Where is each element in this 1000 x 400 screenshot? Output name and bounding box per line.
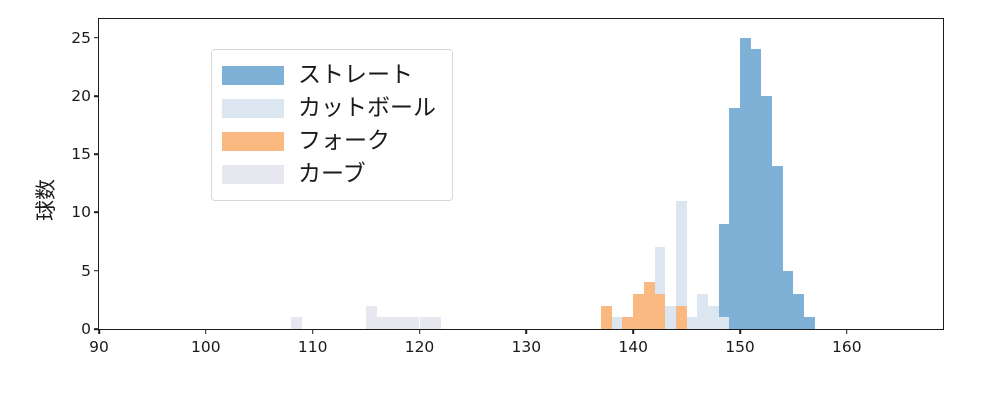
histogram-bar bbox=[793, 294, 804, 329]
legend-item-label: カットボール bbox=[298, 97, 436, 120]
x-axis-tick-label: 140 bbox=[618, 338, 648, 356]
x-axis-tick-mark bbox=[205, 329, 207, 334]
x-axis-tick-label: 150 bbox=[725, 338, 755, 356]
histogram-bar bbox=[420, 317, 431, 329]
legend-item[interactable]: カーブ bbox=[222, 158, 436, 191]
legend-color-swatch bbox=[222, 132, 284, 151]
y-axis-tick-mark bbox=[94, 153, 99, 155]
histogram-bar bbox=[719, 317, 730, 329]
y-axis-tick-mark bbox=[94, 37, 99, 39]
x-axis-tick-mark bbox=[632, 329, 634, 334]
y-axis-tick-label: 15 bbox=[71, 145, 91, 163]
legend-item[interactable]: フォーク bbox=[222, 125, 436, 158]
legend-color-swatch bbox=[222, 66, 284, 85]
y-axis-tick-mark bbox=[94, 270, 99, 272]
y-axis-tick-mark bbox=[94, 212, 99, 214]
histogram-bar bbox=[783, 271, 794, 329]
x-axis-tick-mark bbox=[312, 329, 314, 334]
histogram-bar bbox=[387, 317, 398, 329]
histogram-bar bbox=[430, 317, 441, 329]
legend-item-label: カーブ bbox=[298, 163, 366, 186]
legend-color-swatch bbox=[222, 165, 284, 184]
y-axis-tick-label: 25 bbox=[71, 29, 91, 47]
y-axis-tick-label: 0 bbox=[81, 320, 91, 338]
histogram-bar bbox=[804, 317, 815, 329]
legend-item[interactable]: カットボール bbox=[222, 92, 436, 125]
plot-area: 0510152025 90100110120130140150160 ストレート… bbox=[98, 18, 944, 330]
histogram-bar bbox=[676, 306, 687, 329]
histogram-bar bbox=[740, 38, 751, 329]
histogram-bar bbox=[622, 317, 633, 329]
histogram-bar bbox=[729, 108, 740, 329]
histogram-bar bbox=[697, 294, 708, 329]
histogram-bar bbox=[633, 294, 644, 329]
x-axis-tick-mark bbox=[739, 329, 741, 334]
histogram-figure: 球数 0510152025 90100110120130140150160 スト… bbox=[0, 0, 1000, 400]
histogram-bar bbox=[291, 317, 302, 329]
y-axis-tick-mark bbox=[94, 95, 99, 97]
legend: ストレートカットボールフォークカーブ bbox=[211, 49, 453, 201]
histogram-bar bbox=[377, 317, 388, 329]
histogram-bar bbox=[708, 306, 719, 329]
histogram-bar bbox=[655, 294, 666, 329]
legend-item-label: フォーク bbox=[298, 130, 390, 153]
histogram-bar bbox=[601, 306, 612, 329]
legend-color-swatch bbox=[222, 99, 284, 118]
y-axis-tick-label: 10 bbox=[71, 203, 91, 221]
x-axis-tick-label: 100 bbox=[191, 338, 221, 356]
x-axis-tick-mark bbox=[419, 329, 421, 334]
histogram-bar bbox=[772, 166, 783, 329]
histogram-bar bbox=[366, 306, 377, 329]
x-axis-tick-label: 120 bbox=[405, 338, 435, 356]
y-axis-tick-label: 5 bbox=[81, 262, 91, 280]
histogram-bar bbox=[761, 96, 772, 329]
histogram-bar bbox=[687, 317, 698, 329]
histogram-bar bbox=[644, 282, 655, 329]
x-axis-tick-label: 160 bbox=[832, 338, 862, 356]
x-axis-tick-mark bbox=[846, 329, 848, 334]
x-axis-tick-label: 90 bbox=[89, 338, 109, 356]
histogram-bar bbox=[409, 317, 420, 329]
x-axis-tick-mark bbox=[526, 329, 528, 334]
x-axis-tick-label: 130 bbox=[512, 338, 542, 356]
histogram-bar bbox=[612, 317, 623, 329]
histogram-bar bbox=[665, 306, 676, 329]
legend-item-label: ストレート bbox=[298, 64, 413, 87]
x-axis-tick-label: 110 bbox=[298, 338, 328, 356]
histogram-bar bbox=[719, 224, 730, 329]
histogram-bar bbox=[751, 49, 762, 329]
histogram-bar bbox=[398, 317, 409, 329]
legend-item[interactable]: ストレート bbox=[222, 59, 436, 92]
x-axis-tick-mark bbox=[98, 329, 100, 334]
y-axis-title: 球数 bbox=[30, 179, 60, 221]
y-axis-tick-label: 20 bbox=[71, 87, 91, 105]
